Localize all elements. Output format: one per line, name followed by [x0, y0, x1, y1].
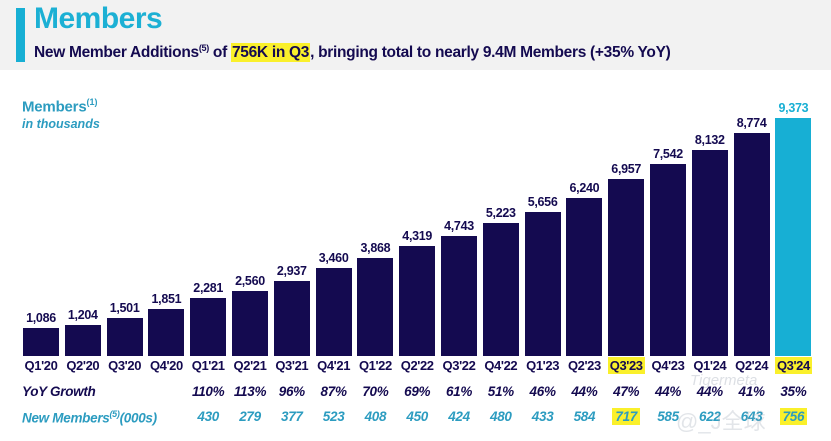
bar[interactable]: [232, 291, 268, 356]
header-subtitle: New Member Additions(5) of 756K in Q3, b…: [34, 38, 670, 63]
subtitle-footnote-marker: (5): [199, 43, 209, 53]
yoy-growth-row: YoY Growth 110%113%96%87%70%69%61%51%46%…: [0, 382, 831, 406]
yoy-growth-cell: 35%: [767, 384, 819, 399]
yoy-growth-row-label: YoY Growth: [22, 384, 96, 399]
subtitle-mid: of: [209, 44, 231, 61]
header-accent-bar: [16, 8, 25, 62]
x-axis-labels: Q1'20Q2'20Q3'20Q4'20Q1'21Q2'21Q3'21Q4'21…: [0, 358, 831, 380]
bar[interactable]: [399, 246, 435, 356]
bar[interactable]: [692, 150, 728, 356]
new-members-row-label: New Members(5)(000s): [22, 409, 157, 426]
bar[interactable]: [441, 236, 477, 356]
new-members-cell: 756: [767, 409, 819, 424]
bar[interactable]: [65, 325, 101, 356]
bar-value-label: 9,373: [767, 101, 819, 115]
bar[interactable]: [566, 198, 602, 356]
bar[interactable]: [608, 179, 644, 356]
bar-column[interactable]: 9,373: [767, 96, 819, 356]
x-axis-label: Q3'24: [767, 358, 819, 373]
subtitle-post: , bringing total to nearly 9.4M Members …: [310, 44, 670, 61]
bar[interactable]: [357, 258, 393, 356]
subtitle-pre: New Member Additions: [34, 44, 199, 61]
bar-chart-plot-area: 1,0861,2041,5011,8512,2812,5602,9373,460…: [0, 96, 831, 356]
bar[interactable]: [650, 164, 686, 356]
header-banner: Members New Member Additions(5) of 756K …: [0, 0, 831, 70]
new-members-row: New Members(5)(000s) 4302793775234084504…: [0, 407, 831, 431]
subtitle-highlight: 756K in Q3: [231, 43, 310, 62]
bar[interactable]: [107, 318, 143, 356]
bar[interactable]: [148, 309, 184, 356]
bar[interactable]: [23, 328, 59, 356]
bar[interactable]: [525, 212, 561, 356]
bar[interactable]: [274, 281, 310, 356]
new-members-footnote-marker: (5): [109, 409, 119, 419]
bar[interactable]: [775, 118, 811, 356]
bar[interactable]: [316, 268, 352, 356]
page-title: Members: [34, 2, 162, 36]
bar[interactable]: [734, 133, 770, 356]
bar[interactable]: [190, 298, 226, 356]
new-members-label-post: (000s): [120, 411, 157, 426]
new-members-label-pre: New Members: [22, 411, 109, 426]
bar[interactable]: [483, 223, 519, 356]
